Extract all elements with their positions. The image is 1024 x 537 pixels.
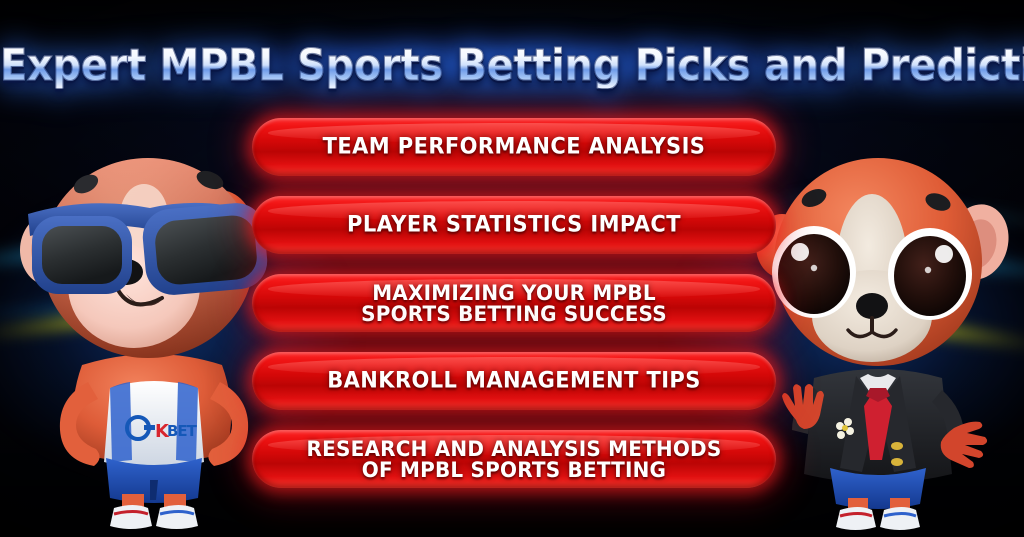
button-player-statistics-impact[interactable]: PLAYER STATISTICS IMPACT [252, 196, 776, 254]
button-label: TEAM PERFORMANCE ANALYSIS [323, 136, 706, 159]
mascot-left-shoe-right [156, 505, 198, 529]
mascot-right-button [891, 442, 903, 450]
button-label: BANKROLL MANAGEMENT TIPS [327, 370, 700, 393]
mascot-left-sunglasses [28, 201, 274, 297]
mascot-right-suit [752, 150, 1022, 537]
mascot-right-shoe-right [880, 507, 920, 530]
page-title: Expert MPBL Sports Betting Picks and Pre… [0, 43, 1024, 88]
mascot-right-eye-right [888, 228, 972, 320]
mascot-right-button-2 [891, 458, 903, 466]
button-label: MAXIMIZING YOUR MPBL SPORTS BETTING SUCC… [361, 281, 667, 324]
mpbl-betting-banner: Expert MPBL Sports Betting Picks and Pre… [0, 0, 1024, 537]
button-maximizing-your-mpbl-sports-betting-success[interactable]: MAXIMIZING YOUR MPBL SPORTS BETTING SUCC… [252, 274, 776, 332]
okbet-logo-bet: BET [167, 422, 198, 440]
button-research-and-analysis-methods-of-mpbl-sports-betting[interactable]: RESEARCH AND ANALYSIS METHODS OF MPBL SP… [252, 430, 776, 488]
mascot-right-eye-left [772, 226, 856, 318]
button-label: RESEARCH AND ANALYSIS METHODS OF MPBL SP… [307, 437, 722, 480]
mascot-right-illustration [752, 150, 1022, 537]
button-label: PLAYER STATISTICS IMPACT [347, 214, 681, 237]
mascot-right-nose [856, 293, 888, 319]
button-bankroll-management-tips[interactable]: BANKROLL MANAGEMENT TIPS [252, 352, 776, 410]
topic-button-list: TEAM PERFORMANCE ANALYSIS PLAYER STATIST… [252, 118, 776, 488]
button-team-performance-analysis[interactable]: TEAM PERFORMANCE ANALYSIS [252, 118, 776, 176]
mascot-left-shoe [110, 505, 152, 529]
mascot-right-shoe [836, 507, 876, 530]
title-area: Expert MPBL Sports Betting Picks and Pre… [0, 18, 1024, 114]
